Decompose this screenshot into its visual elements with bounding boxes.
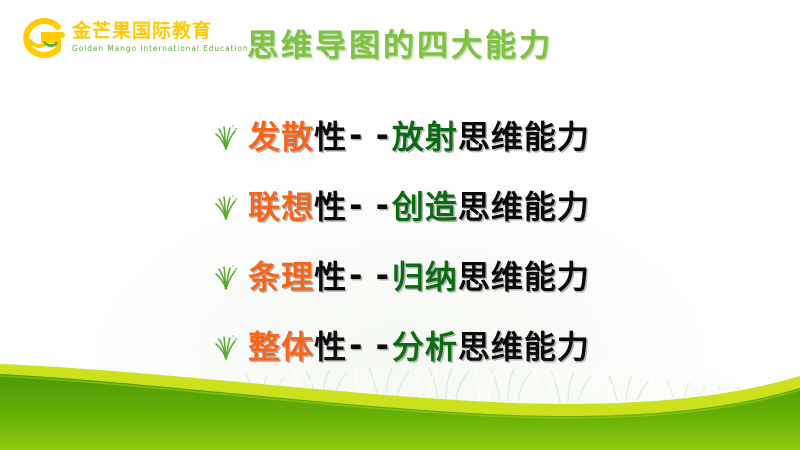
bullet-result: 归纳 xyxy=(392,252,458,298)
grass-sprout-icon xyxy=(210,188,244,222)
bullet-keyword-suffix: 性 xyxy=(314,182,347,228)
page-title: 思维导图的四大能力 xyxy=(0,20,800,65)
bullet-separator: - - xyxy=(347,256,392,294)
bullet-separator: - - xyxy=(347,186,392,224)
bullet-result: 创造 xyxy=(392,182,458,228)
bullet-list: 发散 性 - - 放射 思维能力 xyxy=(0,100,800,380)
list-item: 联想 性 - - 创造 思维能力 xyxy=(0,170,800,240)
bullet-separator: - - xyxy=(347,116,392,154)
bullet-keyword-suffix: 性 xyxy=(314,112,347,158)
bullet-result-suffix: 思维能力 xyxy=(458,112,590,158)
bullet-keyword: 发散 xyxy=(248,112,314,158)
bullet-result-suffix: 思维能力 xyxy=(458,252,590,298)
list-item: 发散 性 - - 放射 思维能力 xyxy=(0,100,800,170)
list-item: 条理 性 - - 归纳 思维能力 xyxy=(0,240,800,310)
bullet-result: 放射 xyxy=(392,112,458,158)
grass-hill-footer xyxy=(0,350,800,450)
grass-sprout-icon xyxy=(210,258,244,292)
grass-sprout-icon xyxy=(210,118,244,152)
bullet-keyword: 条理 xyxy=(248,252,314,298)
slide-canvas: 金芒果国际教育 Golden Mango International Educa… xyxy=(0,0,800,450)
bullet-result-suffix: 思维能力 xyxy=(458,182,590,228)
bullet-keyword-suffix: 性 xyxy=(314,252,347,298)
bullet-keyword: 联想 xyxy=(248,182,314,228)
